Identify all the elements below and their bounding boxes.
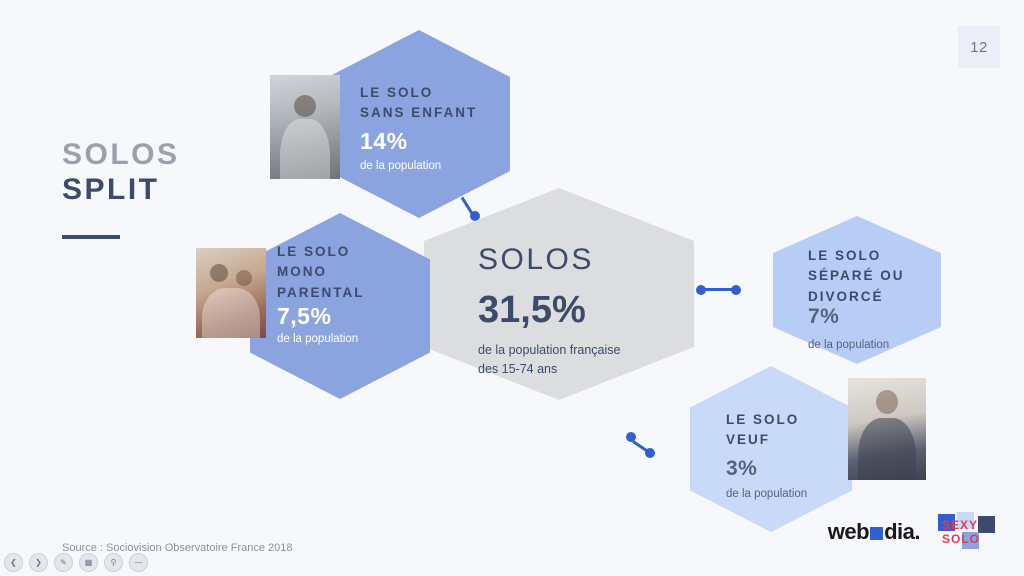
node-percent-mono-parental: 7,5% [277, 303, 331, 330]
node-label-mono-parental: LE SOLO MONO PARENTAL [277, 242, 365, 303]
sexy-solo-logo-line-1: SEXY [942, 519, 980, 533]
node-sub-mono-parental: de la population [277, 333, 358, 345]
photo-solo-sans-enfant [270, 75, 340, 179]
page-number: 12 [958, 26, 1000, 68]
slide-canvas: 12 SOLOS SPLIT SOLOS 31,5% de la populat… [0, 0, 1024, 576]
page-title-line-2: SPLIT [62, 173, 180, 208]
connector-dot-sep-right [731, 285, 741, 295]
sexy-solo-logo: SEXY SOLO [938, 512, 1000, 552]
center-label: SOLOS [478, 243, 594, 277]
photo-solo-mono-parental [196, 248, 266, 338]
webedia-logo-mark [870, 527, 883, 540]
logo-group: webdia. SEXY SOLO [828, 512, 1000, 552]
magnifier-icon[interactable]: ⚲ [104, 553, 123, 572]
node-sub-sans-enfant: de la population [360, 160, 441, 172]
sexy-solo-logo-line-2: SOLO [942, 533, 980, 547]
connector-dot-veuf-lower [645, 448, 655, 458]
node-label-sans-enfant: LE SOLO SANS ENFANT [360, 83, 477, 124]
chevron-right-icon[interactable]: ❯ [29, 553, 48, 572]
center-subtitle: de la population française des 15-74 ans [478, 341, 620, 379]
node-percent-veuf: 3% [726, 457, 757, 481]
photo-solo-veuf [848, 378, 926, 480]
node-percent-separe-divorce: 7% [808, 305, 839, 329]
node-label-veuf: LE SOLO VEUF [726, 410, 799, 451]
node-label-separe-divorce: LE SOLO SÉPARÉ OU DIVORCÉ [808, 246, 905, 307]
sexy-solo-square-dark [978, 516, 995, 533]
page-title: SOLOS SPLIT [62, 138, 180, 239]
pen-icon[interactable]: ✎ [54, 553, 73, 572]
title-underline-rule [62, 235, 120, 239]
node-percent-sans-enfant: 14% [360, 128, 408, 155]
webedia-logo-part-2: dia. [884, 519, 920, 544]
node-sub-veuf: de la population [726, 488, 807, 500]
webedia-logo: webdia. [828, 519, 920, 545]
grid-icon[interactable]: ▦ [79, 553, 98, 572]
webedia-logo-part-1: web [828, 519, 869, 544]
page-title-line-1: SOLOS [62, 138, 180, 173]
center-percent: 31,5% [478, 289, 586, 332]
node-sub-separe-divorce: de la population [808, 339, 889, 351]
sexy-solo-logo-text: SEXY SOLO [942, 519, 980, 547]
chevron-left-icon[interactable]: ❮ [4, 553, 23, 572]
viewer-toolbar[interactable]: ❮ ❯ ✎ ▦ ⚲ — [4, 553, 148, 572]
connector-dot-top-inner [470, 211, 480, 221]
ellipsis-icon[interactable]: — [129, 553, 148, 572]
hexagon-solo-sans-enfant[interactable] [328, 30, 510, 218]
